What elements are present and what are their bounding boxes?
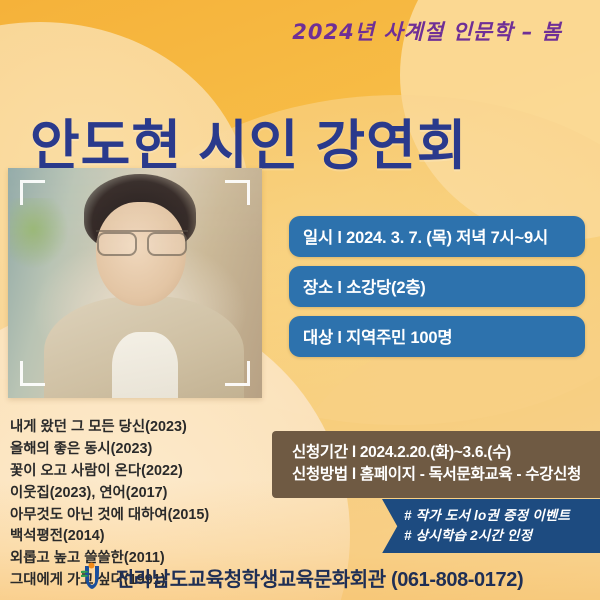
list-item: 꽃이 오고 사람이 온다(2022): [10, 461, 280, 483]
detail-pill-location: 장소 l 소강당(2층): [289, 266, 585, 307]
list-item: 내게 왔던 그 모든 당신(2023): [10, 417, 280, 439]
registration-info: 신청기간 l 2024.2.20.(화)~3.6.(수) 신청방법 l 홈페이지…: [272, 431, 600, 498]
frame-corner-bottom-right-icon: [225, 361, 250, 386]
speaker-photo: [8, 168, 262, 398]
organization-name: 전라남도교육청학생교육문화회관 (061-808-0172): [116, 563, 523, 592]
hashtag-gift-event: # 작가 도서 lo권 증정 이벤트: [404, 506, 590, 526]
page-title: 안도현 시인 강연회: [30, 118, 467, 175]
list-item: 아무것도 아닌 것에 대하여(2015): [10, 505, 280, 527]
registration-method: 신청방법 l 홈페이지 - 독서문화교육 - 수강신청: [292, 464, 600, 486]
list-item: 백석평전(2014): [10, 526, 280, 548]
list-item: 이웃집(2023), 연어(2017): [10, 483, 280, 505]
detail-pill-datetime: 일시 l 2024. 3. 7. (목) 저녁 7시~9시: [289, 216, 585, 257]
hashtag-ribbon: # 작가 도서 lo권 증정 이벤트 # 상시학습 2시간 인정: [382, 499, 600, 553]
photo-overlay: [8, 168, 262, 398]
event-details-list: 일시 l 2024. 3. 7. (목) 저녁 7시~9시 장소 l 소강당(2…: [289, 216, 585, 366]
hashtag-learning-credit: # 상시학습 2시간 인정: [404, 526, 590, 546]
series-kicker: 2024년 사계절 인문학 – 봄: [292, 16, 562, 46]
list-item: 올해의 좋은 동시(2023): [10, 439, 280, 461]
frame-corner-top-right-icon: [225, 180, 250, 205]
poster-root: 2024년 사계절 인문학 – 봄 안도현 시인 강연회 일시 l 2024. …: [0, 0, 600, 600]
detail-pill-audience: 대상 l 지역주민 100명: [289, 316, 585, 357]
footer: 전라남도교육청학생교육문화회관 (061-808-0172): [0, 562, 600, 592]
jeonnam-education-logo-icon: [77, 562, 107, 592]
frame-corner-top-left-icon: [20, 180, 45, 205]
registration-period: 신청기간 l 2024.2.20.(화)~3.6.(수): [292, 442, 600, 464]
frame-corner-bottom-left-icon: [20, 361, 45, 386]
